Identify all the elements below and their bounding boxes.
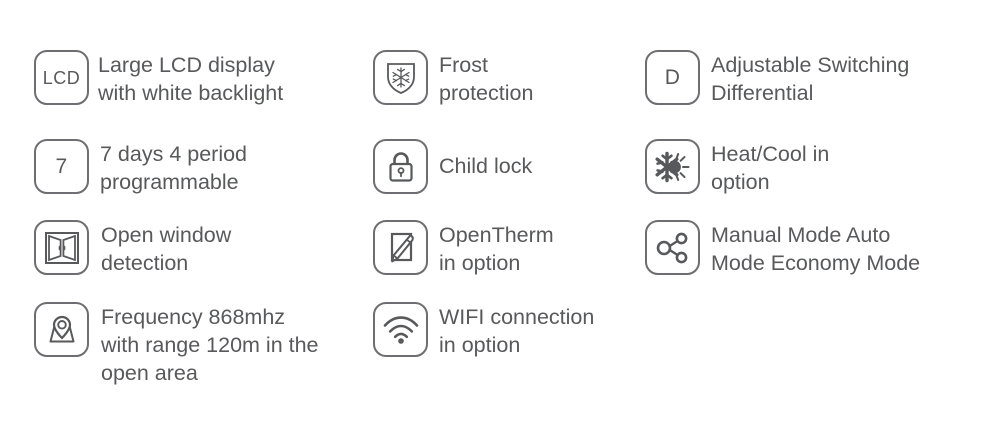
- feature-item-wifi-connection-option: WIFI connection in option: [373, 302, 594, 359]
- feature-label: Open window detection: [101, 220, 231, 277]
- feature-item-heat-cool-option: Heat/Cool in option: [645, 139, 829, 196]
- feature-item-child-lock: Child lock: [373, 139, 532, 194]
- feature-label: 7 days 4 period programmable: [100, 139, 247, 196]
- feature-item-large-lcd-display: LCD Large LCD display with white backlig…: [34, 50, 283, 107]
- feature-label: Frost protection: [439, 50, 533, 107]
- feature-label: Frequency 868mhz with range 120m in the …: [101, 302, 319, 387]
- feature-label: Heat/Cool in option: [711, 139, 829, 196]
- feature-item-manual-auto-economy-mode: Manual Mode Auto Mode Economy Mode: [645, 220, 920, 277]
- lcd-text-icon: LCD: [34, 50, 89, 105]
- feature-item-adjustable-switching-differential: D Adjustable Switching Differential: [645, 50, 909, 107]
- share-nodes-icon: [645, 220, 700, 275]
- feature-label: Child lock: [439, 139, 532, 180]
- feature-item-opentherm-option: OpenTherm in option: [373, 220, 554, 277]
- padlock-icon: [373, 139, 428, 194]
- shield-snowflake-icon: [373, 50, 428, 105]
- document-pen-icon: [373, 220, 428, 275]
- feature-item-frequency-868mhz: Frequency 868mhz with range 120m in the …: [34, 302, 319, 387]
- open-window-icon: [34, 220, 89, 275]
- feature-label: Adjustable Switching Differential: [711, 50, 909, 107]
- number-seven-icon: 7: [34, 139, 89, 194]
- feature-item-open-window-detection: Open window detection: [34, 220, 231, 277]
- snowflake-sun-icon: [645, 139, 700, 194]
- map-pin-icon: [34, 302, 89, 357]
- feature-item-seven-days-four-period-programmable: 7 7 days 4 period programmable: [34, 139, 247, 196]
- feature-label: Large LCD display with white backlight: [98, 50, 283, 107]
- letter-d-icon-label: D: [665, 67, 680, 88]
- feature-label: OpenTherm in option: [439, 220, 554, 277]
- number-seven-icon-label: 7: [56, 156, 68, 177]
- feature-grid: LCD Large LCD display with white backlig…: [0, 0, 1000, 433]
- feature-label: Manual Mode Auto Mode Economy Mode: [711, 220, 920, 277]
- wifi-icon: [373, 302, 428, 357]
- letter-d-icon: D: [645, 50, 700, 105]
- feature-label: WIFI connection in option: [439, 302, 594, 359]
- lcd-icon-label: LCD: [43, 69, 81, 87]
- feature-item-frost-protection: Frost protection: [373, 50, 533, 107]
